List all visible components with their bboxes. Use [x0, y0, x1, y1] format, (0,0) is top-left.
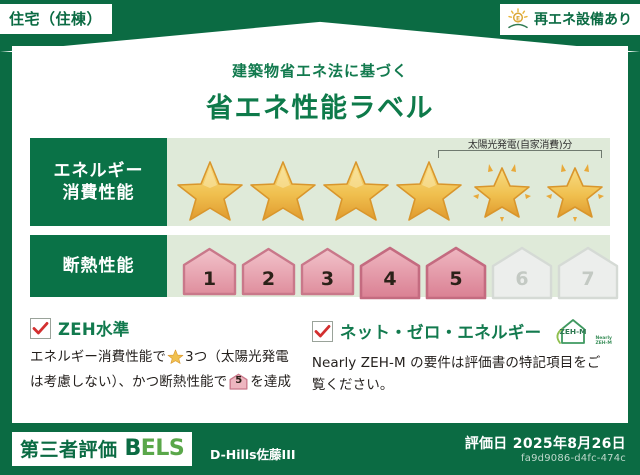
zeh-panel-title: ZEH水準 — [58, 316, 130, 340]
renewable-energy-badge: E 再エネ設備あり — [500, 4, 640, 35]
performance-rows: エネルギー 消費性能 太陽光発電(自家消費)分 — [30, 138, 610, 306]
building-type-badge: 住宅（住棟） — [0, 4, 112, 34]
star-rating — [175, 152, 606, 224]
zeh-body-part3: を達成 — [250, 374, 291, 390]
svg-text:E: E — [516, 15, 520, 22]
zeh-m-sub-line2: ZEH-M — [595, 341, 611, 346]
insulation-performance-row: 断熱性能 1 — [30, 235, 610, 297]
insulation-level-scale: 1 2 3 — [181, 241, 606, 297]
label-card: 建築物省エネ法に基づく 省エネ性能ラベル エネルギー 消費性能 太陽光発電(自家… — [12, 46, 628, 423]
net-zero-checkbox[interactable] — [312, 321, 333, 342]
insulation-level-value: 5 — [424, 268, 488, 290]
evaluation-date-value: 2025年8月26日 — [513, 436, 626, 452]
star-icon-solar — [540, 154, 610, 222]
insulation-level-6: 6 — [490, 245, 554, 297]
zeh-body-part1: エネルギー消費性能で — [30, 349, 166, 365]
solar-note-label: 太陽光発電(自家消費)分 — [436, 136, 604, 151]
energy-performance-label: エネルギー 消費性能 — [30, 138, 167, 226]
star-icon — [175, 154, 245, 222]
energy-performance-row: エネルギー 消費性能 太陽光発電(自家消費)分 — [30, 138, 610, 226]
zeh-m-logo-sub: Nearly ZEH-M — [595, 336, 612, 346]
zeh-body-part2: は考慮しない）、かつ断熱性能で — [30, 374, 227, 390]
insulation-level-2: 2 — [240, 245, 297, 297]
bels-badge: 第三者評価 BELS — [12, 432, 192, 466]
criteria-panels: ZEH水準 エネルギー消費性能で3つ（太陽光発電 は考慮しない）、かつ断熱性能で… — [30, 316, 612, 412]
zeh-checkbox[interactable] — [30, 318, 51, 339]
energy-performance-label: 住宅（住棟） E 再エネ設備あり — [0, 0, 640, 475]
zeh-body-star-count: 3つ（太陽光発電 — [185, 349, 289, 365]
zeh-m-logo: ZEH-M Nearly ZEH-M — [552, 316, 612, 346]
footer-bar: 第三者評価 BELS D-Hills佐藤III 評価日 2025年8月26日 f… — [0, 423, 640, 475]
energy-rating-area: 太陽光発電(自家消費)分 — [167, 138, 610, 226]
net-zero-panel: ネット・ゼロ・エネルギー ZEH-M Nearly ZEH-M Nearl — [312, 316, 612, 412]
insulation-rating-area: 1 2 3 — [167, 235, 610, 297]
building-type-label: 住宅（住棟） — [9, 10, 102, 28]
bels-logo: BELS — [125, 436, 185, 461]
star-icon-solar — [467, 154, 537, 222]
bels-logo-b: B — [125, 436, 141, 461]
net-zero-panel-header: ネット・ゼロ・エネルギー ZEH-M Nearly ZEH-M — [312, 316, 612, 346]
insulation-level-value: 1 — [181, 268, 238, 290]
net-zero-panel-body: Nearly ZEH-M の要件は評価書の特記項目をご覧ください。 — [312, 353, 612, 397]
insulation-label-text: 断熱性能 — [63, 255, 135, 277]
star-icon — [394, 154, 464, 222]
zeh-panel: ZEH水準 エネルギー消費性能で3つ（太陽光発電 は考慮しない）、かつ断熱性能で… — [30, 316, 302, 412]
bels-jp-label: 第三者評価 — [20, 435, 118, 462]
svg-text:ZEH-M: ZEH-M — [560, 327, 587, 336]
insulation-level-7: 7 — [556, 245, 620, 297]
evaluation-date-label: 評価日 — [465, 436, 508, 452]
building-name: D-Hills佐藤III — [210, 444, 296, 463]
header-banner: 住宅（住棟） E 再エネ設備あり — [0, 0, 640, 52]
insulation-level-1: 1 — [181, 245, 238, 297]
insulation-level-value: 4 — [358, 268, 422, 290]
bels-logo-els: ELS — [141, 436, 184, 461]
evaluation-date: 評価日 2025年8月26日 — [465, 433, 626, 453]
insulation-level-value: 3 — [299, 268, 356, 290]
insulation-performance-label: 断熱性能 — [30, 235, 167, 297]
energy-label-line1: エネルギー — [54, 160, 144, 182]
insulation-level-value: 6 — [490, 268, 554, 290]
star-icon — [248, 154, 318, 222]
insulation-level-value: 7 — [556, 268, 620, 290]
energy-label-line2: 消費性能 — [63, 182, 135, 204]
star-icon — [321, 154, 391, 222]
net-zero-panel-title: ネット・ゼロ・エネルギー — [340, 319, 542, 343]
label-uid: fa9d9086-d4fc-474c — [521, 453, 626, 464]
page-title: 省エネ性能ラベル — [12, 86, 628, 125]
renewable-energy-label: 再エネ設備あり — [534, 9, 632, 29]
zeh-panel-header: ZEH水準 — [30, 316, 302, 340]
inline-house-value: 5 — [229, 373, 248, 389]
inline-star-icon — [167, 348, 184, 372]
insulation-level-5: 5 — [424, 245, 488, 297]
insulation-level-3: 3 — [299, 245, 356, 297]
zeh-panel-body: エネルギー消費性能で3つ（太陽光発電 は考慮しない）、かつ断熱性能で5を達成 — [30, 347, 302, 394]
sun-renewable-icon: E — [506, 8, 530, 30]
insulation-level-value: 2 — [240, 268, 297, 290]
insulation-level-4: 4 — [358, 245, 422, 297]
label-subtitle: 建築物省エネ法に基づく — [12, 60, 628, 81]
inline-house-icon: 5 — [229, 373, 248, 390]
